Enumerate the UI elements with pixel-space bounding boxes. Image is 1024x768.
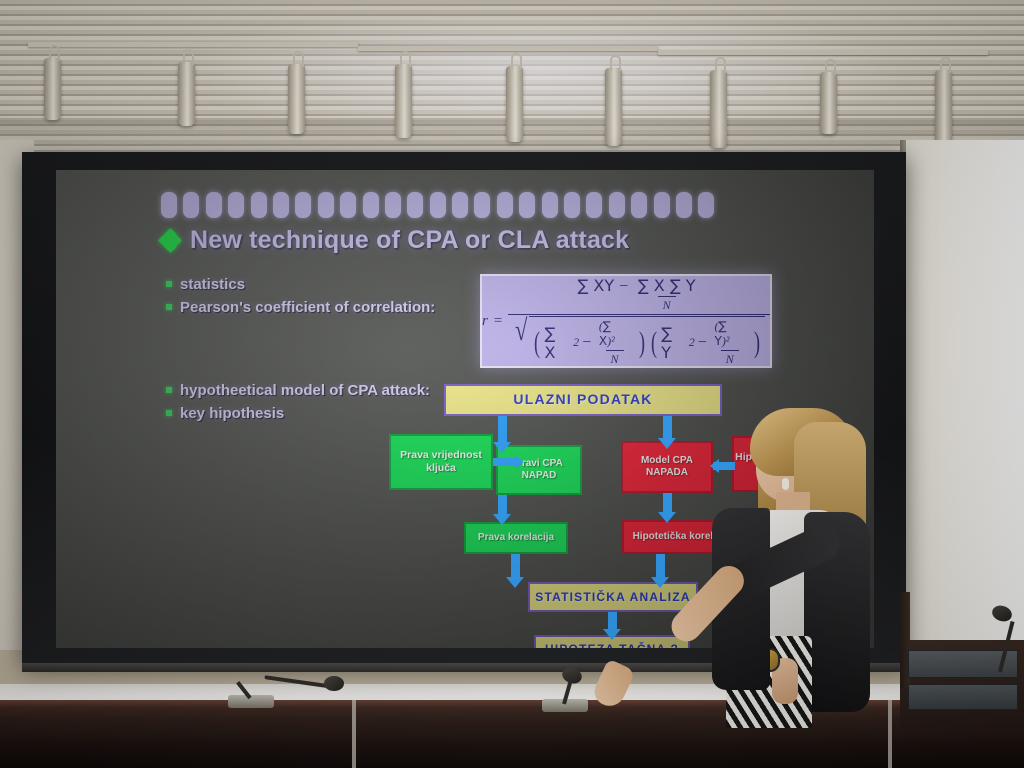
flow-arrow-input-to-true-attack	[498, 416, 507, 444]
desk-microphone-left	[228, 664, 348, 708]
decor-dot	[385, 192, 401, 218]
presenter-blazer-left	[712, 508, 770, 690]
decor-dot	[407, 192, 423, 218]
flow-node-label: Prava korelacija	[478, 532, 554, 544]
decor-dot	[474, 192, 490, 218]
green-diamond-cluster-icon	[160, 231, 180, 251]
formula-numerator: ∑ XY − ∑ X ∑ Y N	[573, 276, 706, 314]
formula-exp-2: 2	[573, 335, 579, 350]
spotlight-icon	[605, 68, 622, 146]
arrow-head-icon	[493, 514, 511, 525]
decor-dot	[363, 192, 379, 218]
decor-dot	[430, 192, 446, 218]
paren-close-icon: )	[754, 330, 760, 356]
lecture-hall-photo: New technique of CPA or CLA attack stati…	[0, 0, 1024, 768]
flow-node-label-line1: Prava vrijednost	[400, 449, 482, 462]
decor-dot	[676, 192, 692, 218]
paren-open-icon: (	[651, 330, 657, 356]
spotlight-icon	[44, 58, 61, 120]
bullet-item: key hipothesis	[166, 405, 430, 422]
arrow-head-icon	[603, 629, 621, 640]
pearson-formula: r = ∑ XY − ∑ X ∑ Y N	[482, 276, 770, 367]
decor-dot	[183, 192, 199, 218]
formula-inner-fraction: ∑ X ∑ Y N	[633, 276, 701, 313]
spotlight-icon	[395, 64, 412, 138]
decor-dot	[228, 192, 244, 218]
presenter	[664, 400, 904, 710]
slide-bullet-group-top: statistics Pearson's coefficient of corr…	[166, 276, 435, 322]
decor-dot	[295, 192, 311, 218]
slide-decor-dot-band	[161, 192, 714, 218]
light-rail-right	[658, 50, 988, 55]
decor-dot	[273, 192, 289, 218]
decor-dot	[318, 192, 334, 218]
decor-dot	[206, 192, 222, 218]
bullet-label: Pearson's coefficient of correlation:	[180, 299, 435, 316]
decor-dot	[497, 192, 513, 218]
desk-seam	[352, 700, 356, 768]
arrow-head-icon	[506, 577, 524, 588]
square-bullet-icon	[166, 304, 172, 310]
formula-sum-x-sum-y: ∑ X ∑ Y	[633, 276, 701, 296]
spotlight-icon	[710, 70, 727, 148]
microphone-head	[324, 676, 344, 691]
formula-main-fraction: ∑ XY − ∑ X ∑ Y N √ (	[508, 276, 770, 367]
desk-seam	[888, 700, 892, 768]
flow-node-true-corr: Prava korelacija	[464, 522, 568, 554]
formula-n: N	[658, 296, 676, 313]
decor-dot	[631, 192, 647, 218]
wall-right	[906, 140, 1024, 660]
formula-n: N	[721, 350, 739, 367]
square-bullet-icon	[166, 387, 172, 393]
radical-icon: √	[515, 317, 527, 368]
flow-node-label-line2: ključa	[426, 462, 456, 475]
formula-sqrt-body: ( ∑ X 2 − (∑ X)² N ) (	[529, 316, 765, 367]
formula-minus: −	[697, 334, 708, 352]
formula-exp-2: 2	[689, 335, 695, 350]
formula-frac-x: (∑ X)² N	[594, 319, 635, 367]
podium-microphone-right	[970, 612, 1024, 672]
flow-node-true-key: Prava vrijednost ključa	[389, 434, 493, 490]
decor-dot	[698, 192, 714, 218]
decor-dot	[340, 192, 356, 218]
formula-sum-x2: ∑ X	[544, 324, 571, 362]
paren-close-icon: )	[639, 330, 645, 356]
formula-n: N	[606, 350, 624, 367]
lectern-panel-lower	[908, 684, 1018, 710]
bullet-label: key hipothesis	[180, 405, 284, 422]
formula-sum-x-sq: (∑ X)²	[594, 319, 635, 350]
decor-dot	[161, 192, 177, 218]
slide-title: New technique of CPA or CLA attack	[160, 226, 629, 255]
bullet-label: hypotheetical model of CPA attack:	[180, 382, 430, 399]
bullet-item: statistics	[166, 276, 435, 293]
square-bullet-icon	[166, 281, 172, 287]
formula-equals: =	[493, 313, 503, 330]
decor-dot	[564, 192, 580, 218]
formula-frac-y: (∑ Y)² N	[709, 319, 750, 367]
spotlight-icon	[288, 64, 305, 134]
spotlight-icon	[820, 72, 837, 134]
bullet-item: hypotheetical model of CPA attack:	[166, 382, 430, 399]
microphone-stem	[998, 621, 1014, 672]
square-bullet-icon	[166, 410, 172, 416]
presenter-forearm	[665, 560, 750, 648]
decor-dot	[542, 192, 558, 218]
bullet-label: statistics	[180, 276, 245, 293]
decor-dot	[609, 192, 625, 218]
decor-dot	[586, 192, 602, 218]
formula-denominator: √ ( ∑ X 2 − (∑ X)² N	[508, 314, 770, 367]
formula-minus: −	[618, 278, 629, 295]
slide-bullet-group-mid: hypotheetical model of CPA attack: key h…	[166, 382, 430, 428]
arrow-head-icon	[493, 442, 511, 453]
arrow-head-icon	[515, 455, 524, 469]
formula-sum-xy: ∑ XY	[578, 276, 615, 295]
flow-node-label-line2: NAPAD	[522, 470, 557, 482]
decor-dot	[452, 192, 468, 218]
presenter-earring	[782, 478, 789, 490]
decor-dot	[251, 192, 267, 218]
formula-minus: −	[581, 334, 592, 352]
spotlight-icon	[935, 70, 952, 146]
formula-sum-y-sq: (∑ Y)²	[709, 319, 750, 350]
decor-dot	[519, 192, 535, 218]
slide-title-text: New technique of CPA or CLA attack	[190, 226, 629, 255]
decor-dot	[654, 192, 670, 218]
spotlight-icon	[178, 62, 195, 126]
flow-node-label: HIPOTEZA TAČNA ?	[545, 642, 679, 648]
front-desk	[0, 700, 1024, 768]
formula-sqrt: √ ( ∑ X 2 − (∑ X)² N	[513, 316, 765, 367]
flow-arrow-true-key-to-true-attack	[493, 458, 517, 466]
light-rail-left	[28, 42, 358, 47]
bullet-item: Pearson's coefficient of correlation:	[166, 299, 435, 316]
paren-open-icon: (	[534, 330, 540, 356]
pearson-formula-box: r = ∑ XY − ∑ X ∑ Y N	[480, 274, 772, 368]
desk-microphone-center	[540, 676, 590, 712]
spotlight-icon	[506, 66, 523, 142]
formula-sum-y2: ∑ Y	[661, 324, 686, 362]
flow-node-label: ULAZNI PODATAK	[513, 391, 652, 408]
formula-lhs: r	[482, 313, 488, 330]
